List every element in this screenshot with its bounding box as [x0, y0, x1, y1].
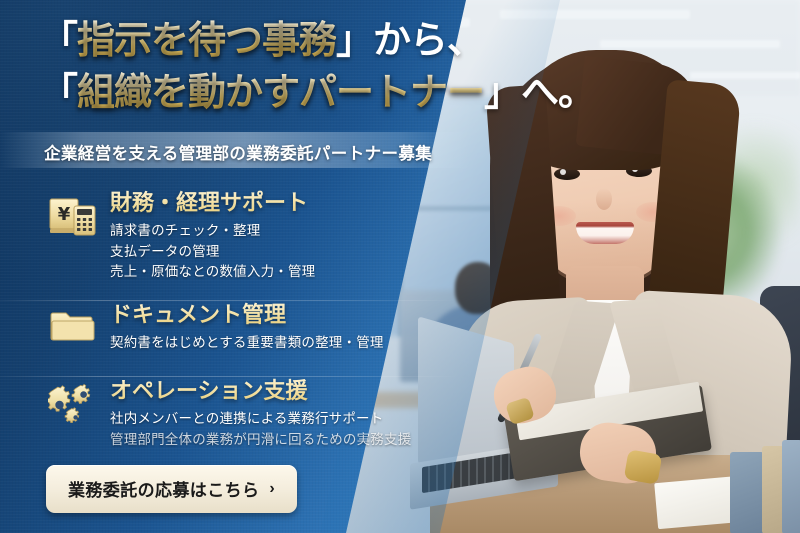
wristwatch	[624, 449, 663, 484]
recruitment-banner: 「指示を待つ事務」から、 「組織を動かすパートナー」へ。 企業経営を支える管理部…	[0, 0, 800, 533]
desk-binder	[782, 440, 800, 533]
headline-gold-1: 指示を待つ事務	[77, 20, 336, 62]
feature-line: 契約書をはじめとする重要書類の整理・管理	[110, 333, 384, 354]
feature-list: ¥ 財務・経理サポート 請求書のチェック・整理 支払データの管理 売	[0, 190, 470, 468]
panel-content: 「指示を待つ事務」から、 「組織を動かすパートナー」へ。 企業経営を支える管理部…	[0, 0, 520, 533]
nose	[596, 188, 612, 210]
subtitle: 企業経営を支える管理部の業務委託パートナー募集	[44, 140, 494, 164]
feature-line: 社内メンバーとの連携による業務行サポート	[110, 409, 411, 430]
headline-line-2: 「組織を動かすパートナー」へ。	[40, 70, 510, 116]
folder-icon	[48, 302, 104, 351]
quote-open-2: 「	[40, 72, 77, 114]
feature-line: 支払データの管理	[110, 242, 315, 263]
feature-item-operations: オペレーション支援 社内メンバーとの連携による業務行サポート 管理部門全体の業務…	[0, 378, 470, 468]
feature-item-documents: ドキュメント管理 契約書をはじめとする重要書類の整理・管理	[0, 302, 470, 378]
feature-line: 請求書のチェック・整理	[110, 221, 315, 242]
quote-close-1: 」から、	[336, 20, 484, 62]
feature-title: 財務・経理サポート	[110, 190, 315, 216]
quote-close-2: 」へ。	[484, 72, 595, 114]
desk-binder	[762, 446, 784, 533]
feature-line: 売上・原価なとの数値入力・管理	[110, 262, 315, 283]
mouth-smile	[576, 222, 634, 244]
headline: 「指示を待つ事務」から、 「組織を動かすパートナー」へ。	[40, 18, 510, 117]
feature-title: ドキュメント管理	[110, 302, 384, 328]
feature-text: ドキュメント管理 契約書をはじめとする重要書類の整理・管理	[104, 302, 384, 354]
desk-binder	[730, 452, 764, 533]
eye-highlight-left	[560, 169, 566, 175]
ledger-calculator-icon: ¥	[48, 190, 104, 243]
headline-line-1: 「指示を待つ事務」から、	[40, 18, 510, 64]
apply-button-label: 業務委託の応募はこちら	[68, 476, 259, 501]
feature-text: 財務・経理サポート 請求書のチェック・整理 支払データの管理 売上・原価なとの数…	[104, 190, 315, 283]
feature-title: オペレーション支援	[110, 378, 411, 404]
chevron-right-icon: ›	[269, 480, 275, 498]
quote-open-1: 「	[40, 20, 77, 62]
headline-gold-2: 組織を動かすパートナー	[77, 72, 484, 114]
gears-icon	[48, 378, 104, 431]
feature-item-finance: ¥ 財務・経理サポート 請求書のチェック・整理 支払データの管理 売	[0, 190, 470, 302]
feature-text: オペレーション支援 社内メンバーとの連携による業務行サポート 管理部門全体の業務…	[104, 378, 411, 450]
svg-text:¥: ¥	[58, 204, 71, 225]
feature-line: 管理部門全体の業務が円滑に回るための実務支援	[110, 430, 411, 451]
apply-button[interactable]: 業務委託の応募はこちら ›	[46, 465, 297, 513]
